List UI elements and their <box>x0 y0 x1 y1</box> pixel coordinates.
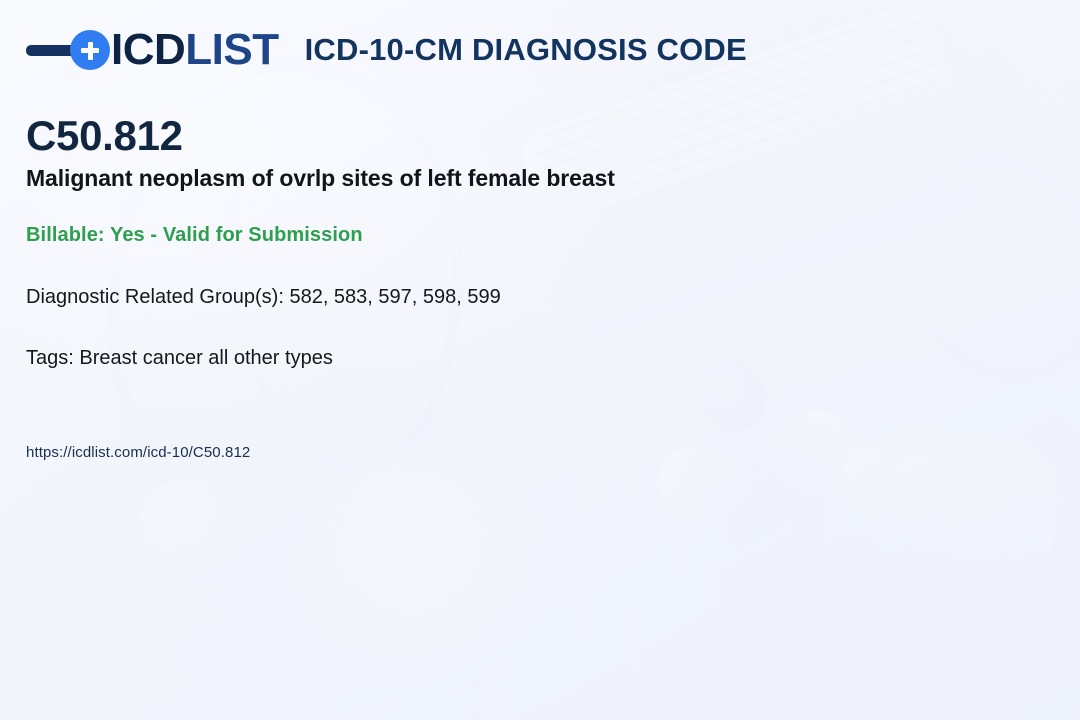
icdlist-logo[interactable]: ICD LIST <box>26 25 279 75</box>
tags-line: Tags: Breast cancer all other types <box>26 347 333 370</box>
diagnosis-description: Malignant neoplasm of ovrlp sites of lef… <box>26 165 615 192</box>
gloved-finger-icon <box>832 438 944 574</box>
dash-icon <box>26 45 76 56</box>
stethoscope-tube-secondary-icon <box>198 73 490 495</box>
header: ICD LIST ICD-10-CM DIAGNOSIS CODE <box>26 25 747 75</box>
gloved-hand-icon <box>804 415 1067 695</box>
logo-word-list: LIST <box>185 25 278 75</box>
source-url[interactable]: https://icdlist.com/icd-10/C50.812 <box>26 444 250 461</box>
stethoscope-eartip-icon <box>713 456 791 544</box>
billable-status: Billable: Yes - Valid for Submission <box>26 224 363 247</box>
gloved-finger-icon <box>941 466 1006 599</box>
surgical-mask-earloop-icon <box>868 122 1080 414</box>
stethoscope-plate-icon <box>300 448 550 698</box>
stethoscope-eartip-icon <box>687 346 776 441</box>
plus-icon <box>70 30 110 70</box>
icd-code-card: ICD LIST ICD-10-CM DIAGNOSIS CODE C50.81… <box>0 0 1080 720</box>
gloved-finger-icon <box>886 447 975 585</box>
paper-heart-icon <box>672 402 858 588</box>
page-title: ICD-10-CM DIAGNOSIS CODE <box>305 32 747 68</box>
stethoscope-chestpiece-icon <box>136 478 244 586</box>
diagnosis-code: C50.812 <box>26 112 183 160</box>
logo-word-icd: ICD <box>111 25 185 75</box>
diagnostic-related-groups: Diagnostic Related Group(s): 582, 583, 5… <box>26 286 501 309</box>
